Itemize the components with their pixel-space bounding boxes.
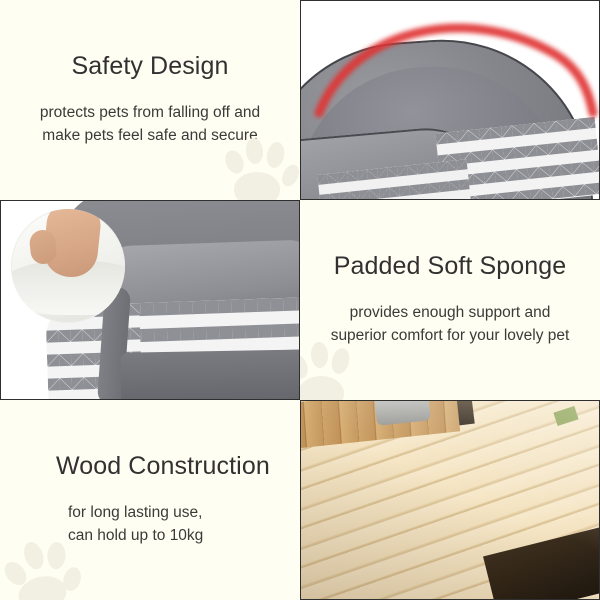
panel-photo-wood-planks — [300, 400, 600, 600]
panel-title-safety-design: Safety Design — [72, 53, 229, 81]
panel-description-wood-construction: for long lasting use, can hold up to 10k… — [58, 501, 203, 548]
panel-wood-construction: Wood Construction for long lasting use, … — [0, 400, 300, 600]
wood-planks-illustration — [301, 401, 599, 599]
description-line: provides enough support and — [331, 301, 570, 324]
panel-photo-sofa-backrest — [300, 0, 600, 200]
sofa-illustration — [301, 1, 599, 199]
panel-description-padded-soft-sponge: provides enough support and superior com… — [331, 301, 570, 348]
description-line: make pets feel safe and secure — [40, 124, 260, 147]
description-line: for long lasting use, — [68, 501, 203, 524]
panel-safety-design: Safety Design protects pets from falling… — [0, 0, 300, 200]
panel-title-padded-soft-sponge: Padded Soft Sponge — [334, 253, 567, 281]
panel-title-wood-construction: Wood Construction — [56, 453, 270, 481]
sofa-base — [121, 349, 300, 400]
panel-photo-foam-press — [0, 200, 300, 400]
panel-description-safety-design: protects pets from falling off and make … — [40, 101, 260, 148]
panel-padded-soft-sponge: Padded Soft Sponge provides enough suppo… — [300, 200, 600, 400]
red-highlight-arc — [301, 1, 600, 200]
lighting-overlay — [301, 401, 599, 599]
foam-closeup-inset — [11, 209, 125, 323]
description-line: superior comfort for your lovely pet — [331, 324, 570, 347]
description-line: can hold up to 10kg — [68, 524, 203, 547]
sofa-chevron-illustration — [1, 201, 299, 399]
feature-grid: Safety Design protects pets from falling… — [0, 0, 600, 600]
description-line: protects pets from falling off and — [40, 101, 260, 124]
